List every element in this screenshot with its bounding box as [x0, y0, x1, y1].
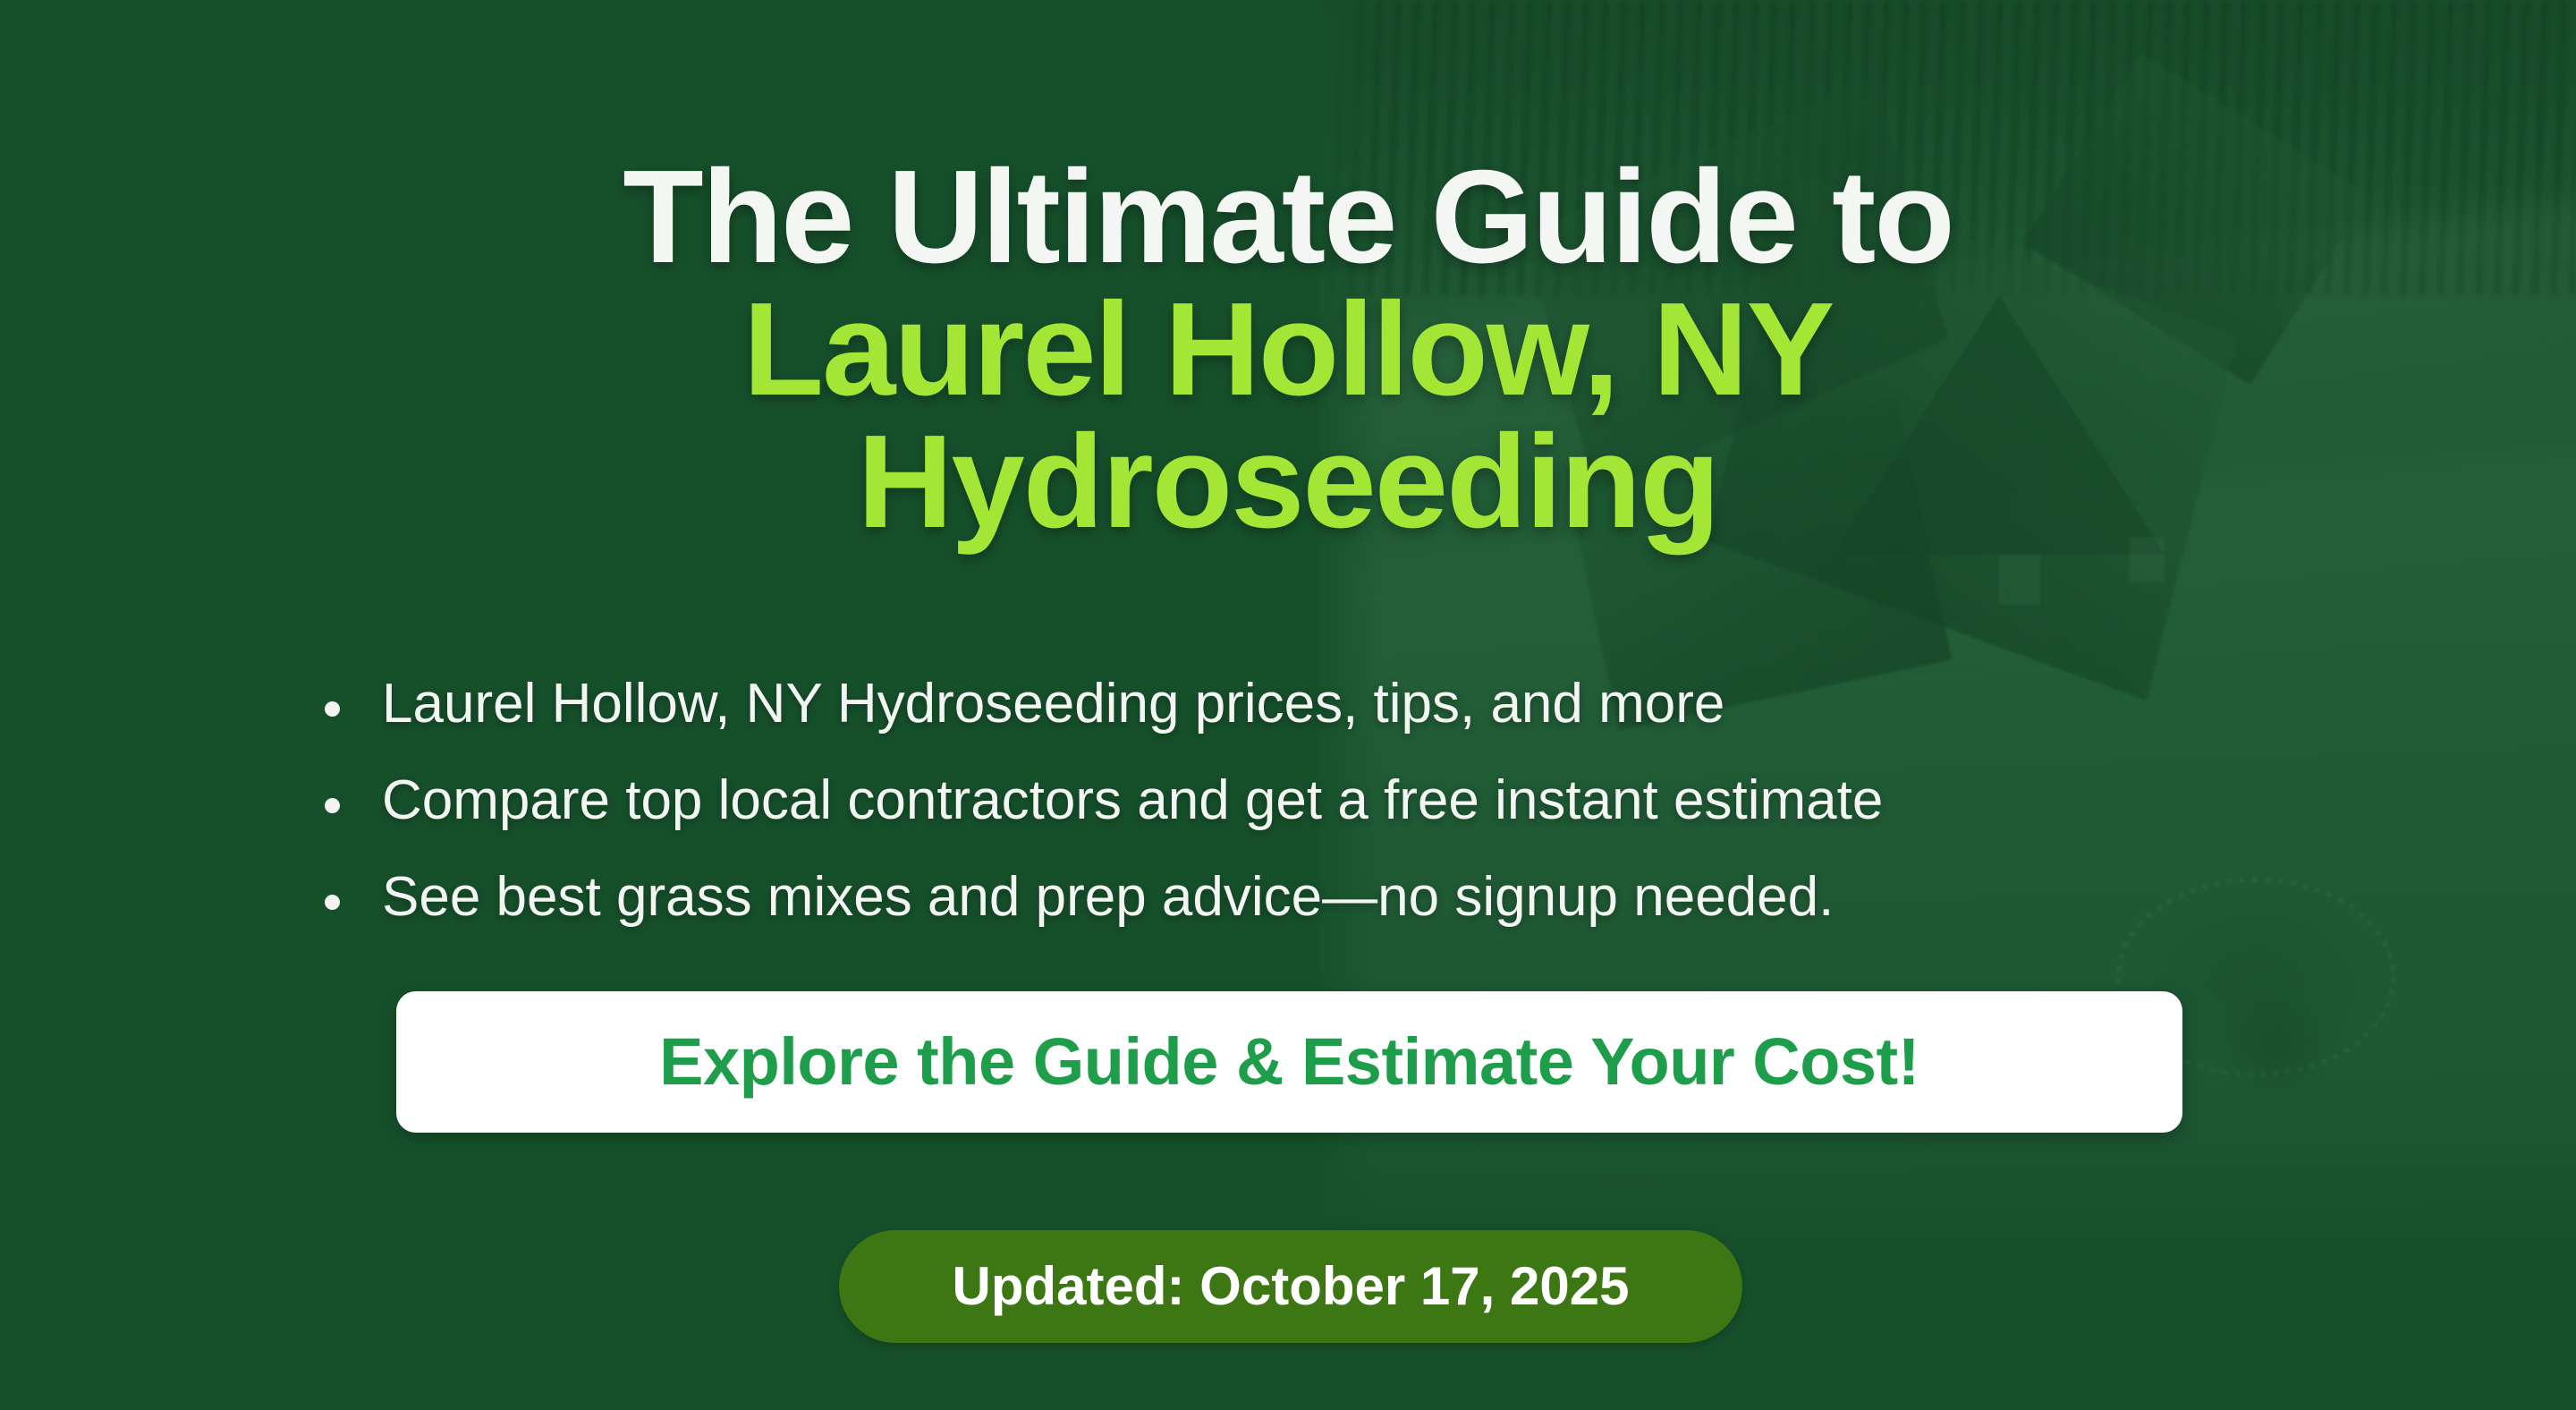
- list-item: See best grass mixes and prep advice—no …: [318, 870, 1883, 925]
- banner-content: The Ultimate Guide to Laurel Hollow, NY …: [0, 0, 2576, 1410]
- headline-line-2: Laurel Hollow, NY: [107, 284, 2469, 416]
- list-item: Laurel Hollow, NY Hydroseeding prices, t…: [318, 676, 1883, 732]
- updated-date-badge: Updated: October 17, 2025: [839, 1230, 1742, 1343]
- headline-line-1: The Ultimate Guide to: [107, 151, 2469, 284]
- list-item: Compare top local contractors and get a …: [318, 773, 1883, 828]
- page-title: The Ultimate Guide to Laurel Hollow, NY …: [0, 151, 2576, 548]
- hero-banner: The Ultimate Guide to Laurel Hollow, NY …: [0, 0, 2576, 1410]
- benefit-list: Laurel Hollow, NY Hydroseeding prices, t…: [318, 676, 1883, 925]
- explore-guide-cta-button[interactable]: Explore the Guide & Estimate Your Cost!: [396, 991, 2182, 1133]
- headline-line-3: Hydroseeding: [107, 416, 2469, 548]
